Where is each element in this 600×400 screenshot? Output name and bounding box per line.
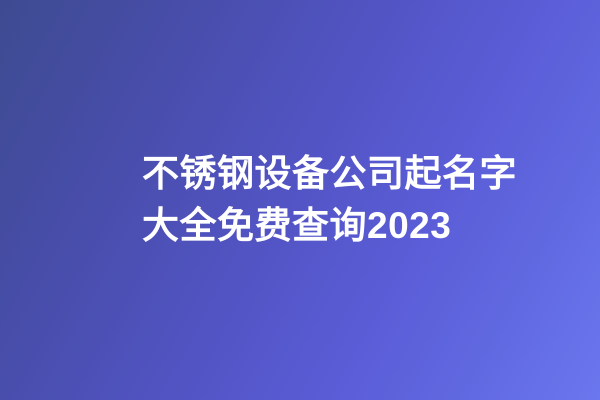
page-title-line-1: 不锈钢设备公司起名字 <box>142 148 517 200</box>
page-title: 不锈钢设备公司起名字 大全免费查询2023 <box>142 148 517 252</box>
title-card: 不锈钢设备公司起名字 大全免费查询2023 <box>0 0 600 400</box>
page-title-line-2: 大全免费查询2023 <box>142 200 517 252</box>
